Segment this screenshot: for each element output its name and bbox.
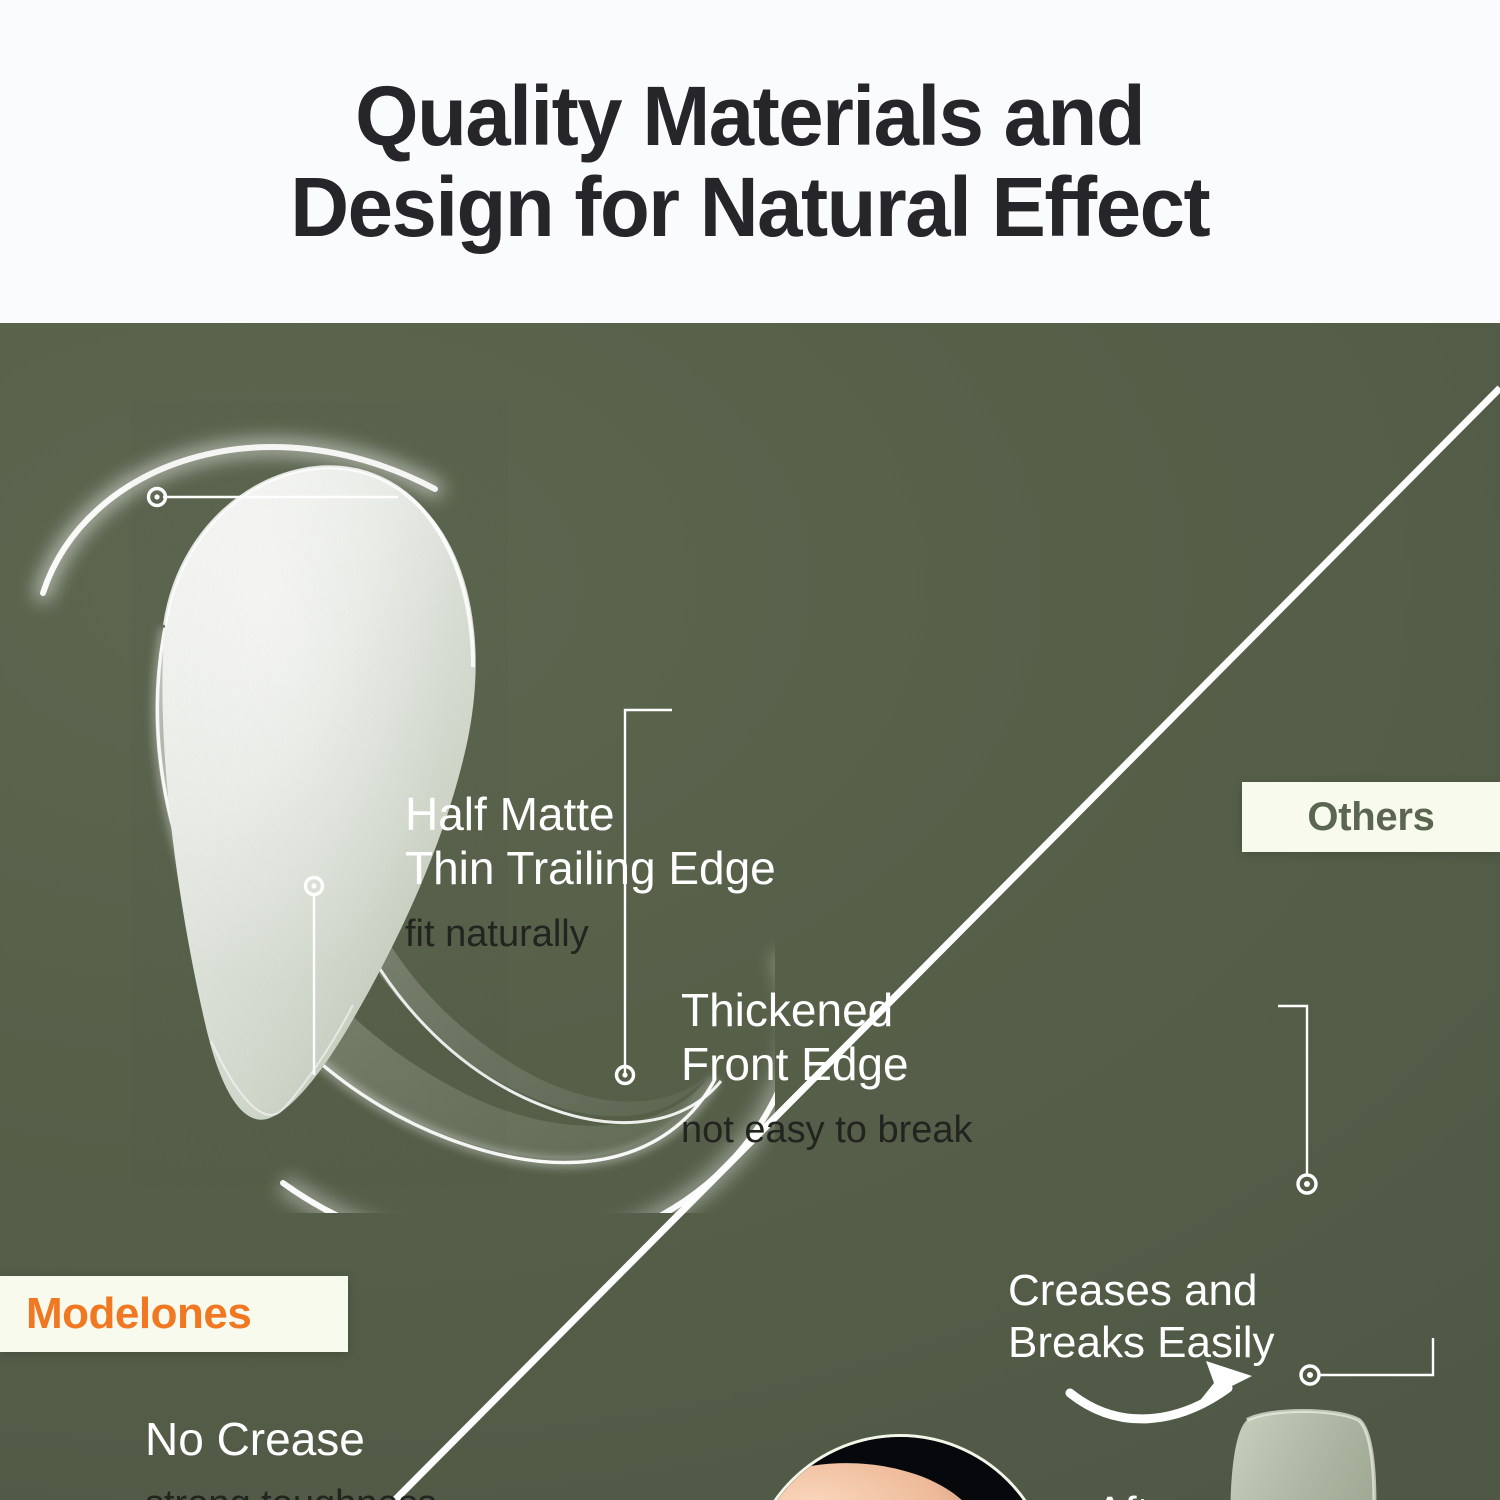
infographic-page: Quality Materials and Design for Natural… (0, 0, 1500, 1500)
leader-abs (1301, 1338, 1433, 1384)
leader-thickened-front-edge (617, 710, 673, 1084)
annotation-no-crease-sub: strong toughness (145, 1482, 437, 1500)
annotation-creases-breaks-title: Creases and Breaks Easily (1008, 1265, 1275, 1369)
annotation-creases-breaks: Creases and Breaks Easily (1008, 1265, 1275, 1369)
modelones-nail-illustration (15, 393, 775, 1213)
annotation-half-matte-title: Half Matte Thin Trailing Edge (405, 787, 776, 896)
annotation-after-bend: After Bend (1095, 1487, 1198, 1500)
annotation-after-bend-title: After Bend (1095, 1487, 1198, 1500)
annotation-no-crease: No Crease strong toughness (145, 1412, 437, 1500)
brand-badge-modelones: Modelones (0, 1276, 348, 1352)
abs-nail-illustration (1213, 1406, 1393, 1500)
competitor-badge-others: Others (1242, 782, 1500, 852)
annotation-thickened-front-edge-sub: not easy to break (681, 1108, 973, 1154)
annotation-no-crease-title: No Crease (145, 1412, 437, 1466)
header-band: Quality Materials and Design for Natural… (0, 0, 1500, 323)
page-title: Quality Materials and Design for Natural… (232, 71, 1267, 252)
diagonal-divider (395, 388, 1500, 1500)
page-title-line-1: Quality Materials and (355, 69, 1144, 163)
annotation-thickened-front-edge-title: Thickened Front Edge (681, 983, 973, 1092)
bend-test-photo (746, 1434, 1054, 1500)
leader-no-crease (306, 878, 323, 1076)
competitor-badge-label: Others (1307, 795, 1434, 840)
bend-test-photo-image (749, 1437, 1051, 1500)
annotation-thickened-front-edge: Thickened Front Edge not easy to break (681, 983, 973, 1153)
annotation-half-matte-sub: fit naturally (405, 912, 776, 958)
page-title-line-2: Design for Natural Effect (291, 162, 1210, 253)
annotation-half-matte: Half Matte Thin Trailing Edge fit natura… (405, 787, 776, 957)
brand-badge-label: Modelones (26, 1289, 251, 1339)
leader-half-matte (149, 489, 399, 506)
leader-creases-breaks (1278, 1006, 1316, 1193)
